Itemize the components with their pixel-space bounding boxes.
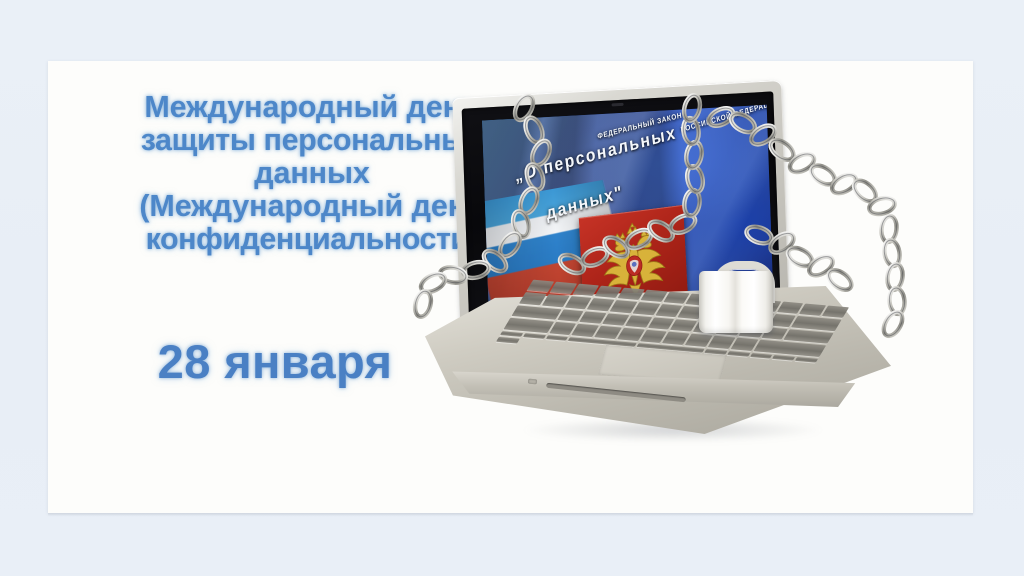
poster-stage: Международный день защиты персональных д… [0,0,1024,576]
key[interactable] [749,353,772,359]
key-shift-left[interactable] [503,318,553,333]
key[interactable] [624,315,651,328]
key[interactable] [632,302,659,315]
screen-superscript-right: РОССИЙСКОЙ ФЕДЕРАЦИИ [680,105,774,134]
chained-laptop-photo: ФЕДЕРАЛЬНЫЙ ЗАКОН РОССИЙСКОЙ ФЕДЕРАЦИИ „… [403,61,973,513]
key[interactable] [640,290,667,303]
padlock-body [699,271,773,333]
key[interactable] [772,355,795,361]
key-backspace[interactable] [791,316,841,331]
key-alt[interactable] [522,333,545,339]
key[interactable] [541,294,568,307]
key-enter[interactable] [783,329,833,344]
laptop-base [425,286,891,434]
key[interactable] [794,357,817,363]
key[interactable] [545,335,568,341]
screen-title-line-1: „О персональных [513,124,677,188]
key[interactable] [726,351,749,357]
key[interactable] [549,282,576,295]
webcam-icon [612,103,624,107]
key-ctrl[interactable] [499,331,522,337]
key-tab[interactable] [511,305,561,320]
key[interactable] [730,338,757,351]
key[interactable] [617,328,644,341]
padlock-icon [699,261,773,333]
poster-card: Международный день защиты персональных д… [48,61,973,513]
